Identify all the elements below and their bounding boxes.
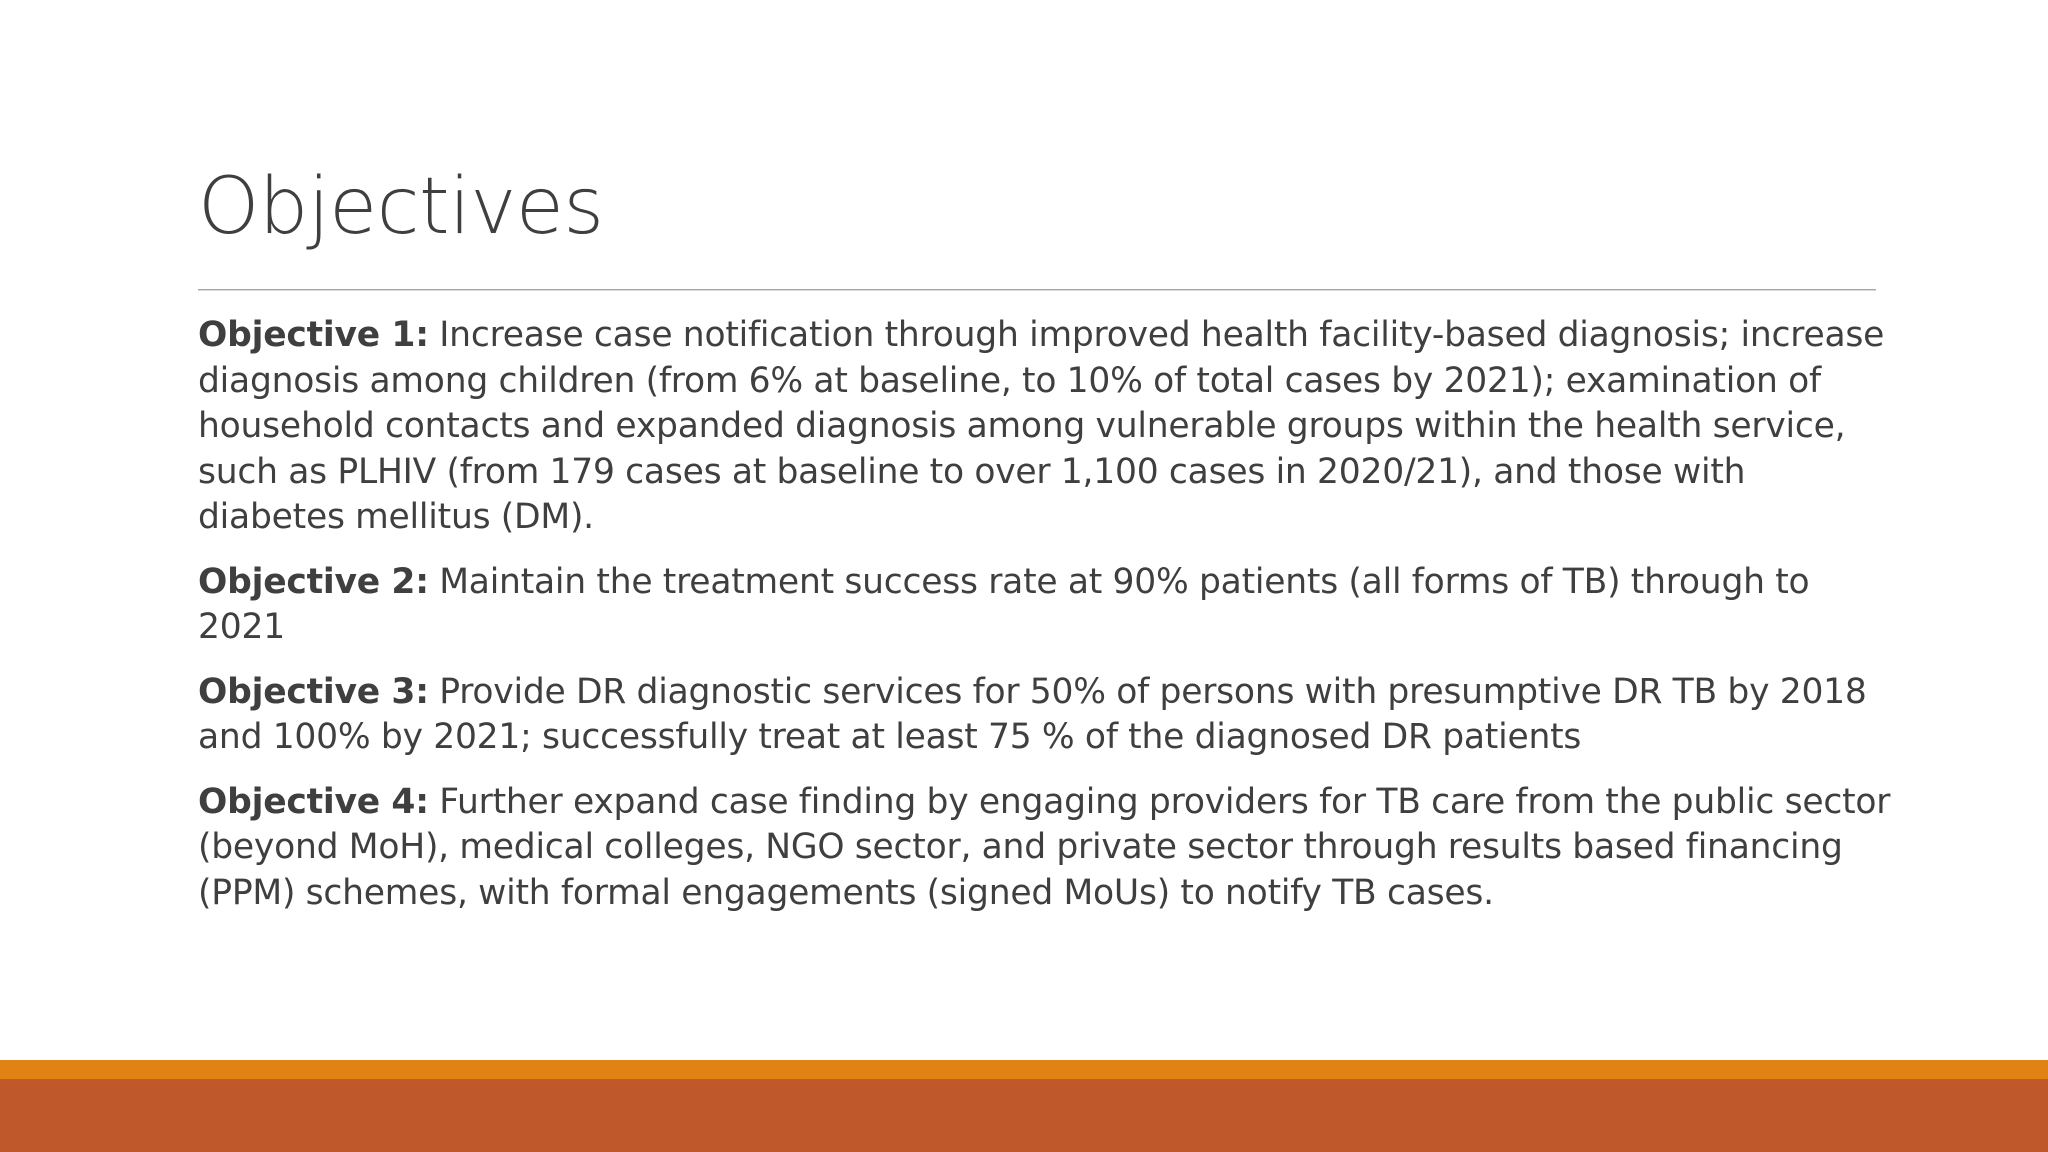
footer-accent-band-burnt-orange (0, 1079, 2048, 1152)
objective-text-2: Maintain the treatment success rate at 9… (198, 562, 1809, 648)
objective-paragraph-3: Objective 3: Provide DR diagnostic servi… (198, 670, 1898, 761)
objective-paragraph-1: Objective 1: Increase case notification … (198, 313, 1898, 541)
slide-canvas: Objectives Objective 1: Increase case no… (0, 0, 2048, 1152)
objective-label-2: Objective 2: (198, 562, 429, 602)
title-divider (198, 289, 1876, 291)
footer-accent-stripe-orange (0, 1060, 2048, 1079)
objective-paragraph-2: Objective 2: Maintain the treatment succ… (198, 560, 1898, 651)
page-title: Objectives (198, 168, 1876, 246)
objective-text-4: Further expand case finding by engaging … (198, 782, 1890, 913)
objective-text-3: Provide DR diagnostic services for 50% o… (198, 672, 1867, 758)
objective-label-1: Objective 1: (198, 315, 429, 355)
objective-label-3: Objective 3: (198, 672, 429, 712)
title-placeholder[interactable]: Objectives (198, 168, 1876, 246)
objective-paragraph-4: Objective 4: Further expand case finding… (198, 780, 1898, 917)
content-placeholder[interactable]: Objective 1: Increase case notification … (198, 313, 1898, 916)
objective-text-1: Increase case notification through impro… (198, 315, 1884, 537)
objective-label-4: Objective 4: (198, 782, 429, 822)
